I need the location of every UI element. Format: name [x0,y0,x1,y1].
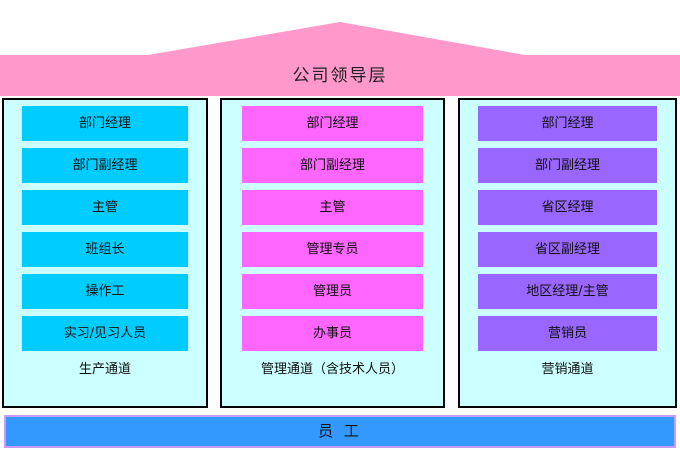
track-label-production: 生产通道 [22,360,188,380]
role-box[interactable]: 操作工 [22,274,188,309]
role-box[interactable]: 省区副经理 [478,232,657,267]
track-label-management: 管理通道（含技术人员） [242,360,423,380]
role-box[interactable]: 部门经理 [478,106,657,141]
employee-foundation-bar[interactable]: 员 工 [4,415,676,448]
role-box[interactable]: 办事员 [242,316,423,351]
role-box[interactable]: 管理专员 [242,232,423,267]
role-box[interactable]: 部门经理 [242,106,423,141]
role-box[interactable]: 营销员 [478,316,657,351]
role-box[interactable]: 部门经理 [22,106,188,141]
track-panel-marketing[interactable]: 部门经理 部门副经理 省区经理 省区副经理 地区经理/主管 营销员 营销通道 [458,98,677,408]
career-track-columns: 部门经理 部门副经理 主管 班组长 操作工 实习/见习人员 生产通道 部门经理 … [0,98,680,410]
org-career-path-diagram: 公司领导层 部门经理 部门副经理 主管 班组长 操作工 实习/见习人员 生产通道… [0,0,680,460]
role-box[interactable]: 主管 [242,190,423,225]
role-box[interactable]: 地区经理/主管 [478,274,657,309]
page-title: 公司领导层 [0,55,680,97]
track-label-marketing: 营销通道 [478,360,657,380]
leadership-roof: 公司领导层 [0,0,680,97]
role-box[interactable]: 部门副经理 [478,148,657,183]
track-panel-management[interactable]: 部门经理 部门副经理 主管 管理专员 管理员 办事员 管理通道（含技术人员） [220,98,445,408]
role-box[interactable]: 部门副经理 [22,148,188,183]
track-panel-production[interactable]: 部门经理 部门副经理 主管 班组长 操作工 实习/见习人员 生产通道 [2,98,208,408]
role-box[interactable]: 实习/见习人员 [22,316,188,351]
role-box[interactable]: 部门副经理 [242,148,423,183]
role-box[interactable]: 班组长 [22,232,188,267]
role-box[interactable]: 主管 [22,190,188,225]
role-box[interactable]: 管理员 [242,274,423,309]
role-box[interactable]: 省区经理 [478,190,657,225]
